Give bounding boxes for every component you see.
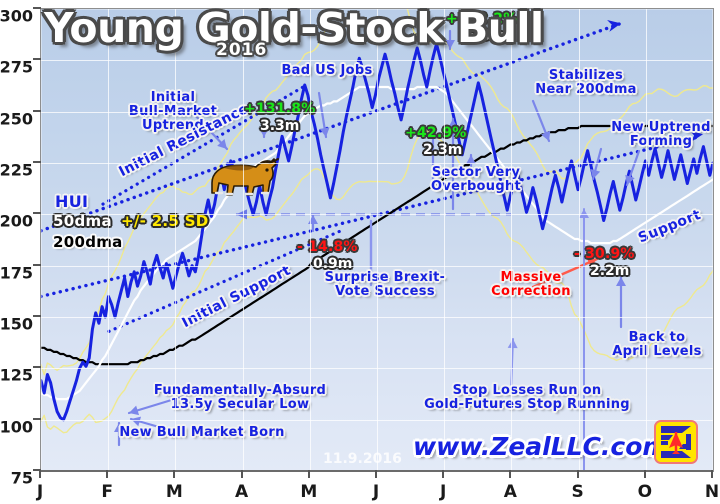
x-axis-tick	[644, 470, 646, 478]
plot-area: Initial Bull-Market Uptrend Bad US Jobs …	[40, 8, 714, 472]
annotation-surprise-brexit-vote-success: Surprise Brexit- Vote Success	[315, 271, 455, 299]
y-axis-tick	[33, 366, 41, 368]
annotation-new-uptrend-forming: New Uptrend Forming	[601, 121, 714, 149]
gridline-vertical	[108, 9, 109, 471]
y-axis-tick-label: 250	[0, 109, 33, 128]
y-axis-tick	[33, 469, 41, 471]
x-axis-tick-label: J	[440, 482, 446, 502]
move-label-1-duration: 3.3m	[260, 118, 299, 134]
move-label-1-pct: +131.8%	[244, 101, 315, 117]
y-axis-tick-label: 100	[0, 417, 33, 436]
y-axis-tick-label: 200	[0, 212, 33, 231]
chart-root: Initial Bull-Market Uptrend Bad US Jobs …	[0, 0, 720, 504]
x-axis-tick	[442, 470, 444, 478]
gridline-vertical	[444, 9, 445, 471]
y-axis-tick-label: 275	[0, 58, 33, 77]
x-axis-tick-label: J	[37, 482, 43, 502]
x-axis-tick	[509, 470, 511, 478]
annotation-fundamentally-absurd-secular-low: Fundamentally-Absurd 13.5y Secular Low	[137, 384, 343, 412]
y-axis-tick-label: 75	[11, 469, 33, 488]
y-axis-tick-label: 175	[0, 263, 33, 282]
x-axis-tick	[375, 470, 377, 478]
move-label-4-pct: - 14.8%	[297, 239, 358, 255]
move-label-3-duration: 2.3m	[423, 142, 462, 158]
x-axis-tick	[711, 470, 713, 478]
annotation-back-to-april-levels: Back to April Levels	[599, 331, 714, 359]
x-axis-tick	[241, 470, 243, 478]
x-axis-tick	[308, 470, 310, 478]
x-axis-tick-label: A	[504, 482, 517, 502]
website-label: www.ZealLLC.com	[413, 432, 668, 461]
annotation-sector-very-overbought: Sector Very Overbought	[411, 166, 541, 194]
gridline-vertical	[310, 9, 311, 471]
gridline-vertical	[243, 9, 244, 471]
date-stamp: 11.9.2016	[323, 451, 402, 467]
y-axis-tick-label: 125	[0, 366, 33, 385]
y-axis-tick	[33, 58, 41, 60]
x-axis-tick	[39, 470, 41, 478]
y-axis-tick	[33, 161, 41, 163]
page-title: Young Gold-Stock Bull	[44, 4, 544, 52]
gridline-vertical	[511, 9, 512, 471]
x-axis-tick-label: O	[638, 482, 652, 502]
y-axis-tick	[33, 7, 41, 9]
gridline-vertical	[713, 9, 714, 471]
gridline-vertical	[377, 9, 378, 471]
annotation-stop-losses-run: Stop Losses Run on Gold-Futures Stop Run…	[419, 384, 635, 412]
legend-hui: HUI	[55, 192, 88, 211]
gridline-vertical	[175, 9, 176, 471]
x-axis-tick-label: A	[235, 482, 248, 502]
x-axis-tick	[577, 470, 579, 478]
x-axis-tick-label: M	[300, 482, 317, 502]
x-axis-tick-label: J	[373, 482, 379, 502]
move-label-3-pct: +42.9%	[405, 125, 467, 141]
legend-200dma: 200dma	[53, 233, 123, 251]
move-label-5-pct: - 30.9%	[574, 246, 635, 262]
gridline-vertical	[579, 9, 580, 471]
annotation-bad-us-jobs: Bad US Jobs	[269, 64, 385, 78]
x-axis-tick-label: F	[101, 482, 113, 502]
x-axis-tick-label: M	[166, 482, 183, 502]
x-axis-tick-label: N	[705, 482, 719, 502]
y-axis-tick-label: 300	[0, 7, 33, 26]
x-axis-tick-label: S	[571, 482, 583, 502]
page-subtitle: 2016	[216, 40, 267, 60]
y-axis-tick	[33, 264, 41, 266]
annotation-stabilizes-near-200dma: Stabilizes Near 200dma	[516, 69, 656, 97]
y-axis-tick-label: 150	[0, 315, 33, 334]
y-axis-tick	[33, 315, 41, 317]
y-axis-tick-label: 225	[0, 161, 33, 180]
annotation-massive-correction: Massive Correction	[472, 271, 590, 299]
callout-arrowhead	[508, 339, 518, 348]
gridline-vertical	[646, 9, 647, 471]
move-label-4-duration: 0.9m	[313, 256, 352, 272]
y-axis-tick	[33, 110, 41, 112]
annotation-new-bull-market-born: New Bull Market Born	[109, 426, 295, 440]
x-axis-tick	[173, 470, 175, 478]
y-axis-tick	[33, 212, 41, 214]
y-axis-tick	[33, 418, 41, 420]
x-axis: JFMAMJJASON	[40, 470, 712, 504]
zeal-logo-icon	[654, 420, 698, 464]
x-axis-tick	[106, 470, 108, 478]
